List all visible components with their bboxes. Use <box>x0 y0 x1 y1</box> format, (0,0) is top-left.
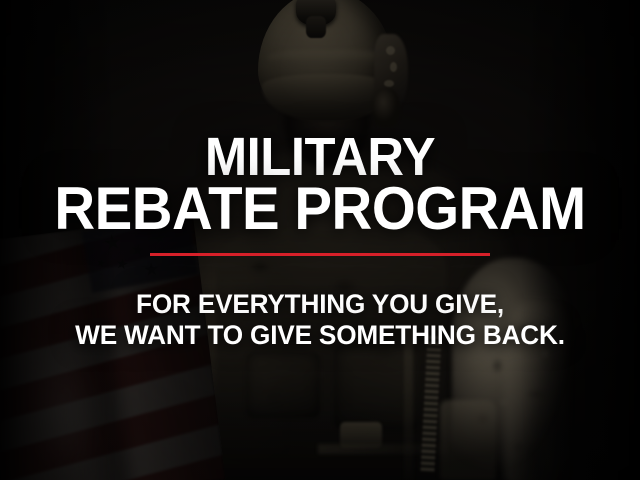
banner-content: MILITARY REBATE PROGRAM FOR EVERYTHING Y… <box>0 0 640 480</box>
subheadline-line-2: WE WANT TO GIVE SOMETHING BACK. <box>10 320 631 351</box>
red-divider <box>150 253 490 256</box>
military-rebate-banner: MILITARY REBATE PROGRAM FOR EVERYTHING Y… <box>0 0 640 480</box>
headline-line-2: REBATE PROGRAM <box>19 183 621 235</box>
subheadline-line-1: FOR EVERYTHING YOU GIVE, <box>10 289 631 320</box>
page-title: MILITARY REBATE PROGRAM <box>19 0 621 235</box>
subheadline: FOR EVERYTHING YOU GIVE, WE WANT TO GIVE… <box>10 289 631 351</box>
